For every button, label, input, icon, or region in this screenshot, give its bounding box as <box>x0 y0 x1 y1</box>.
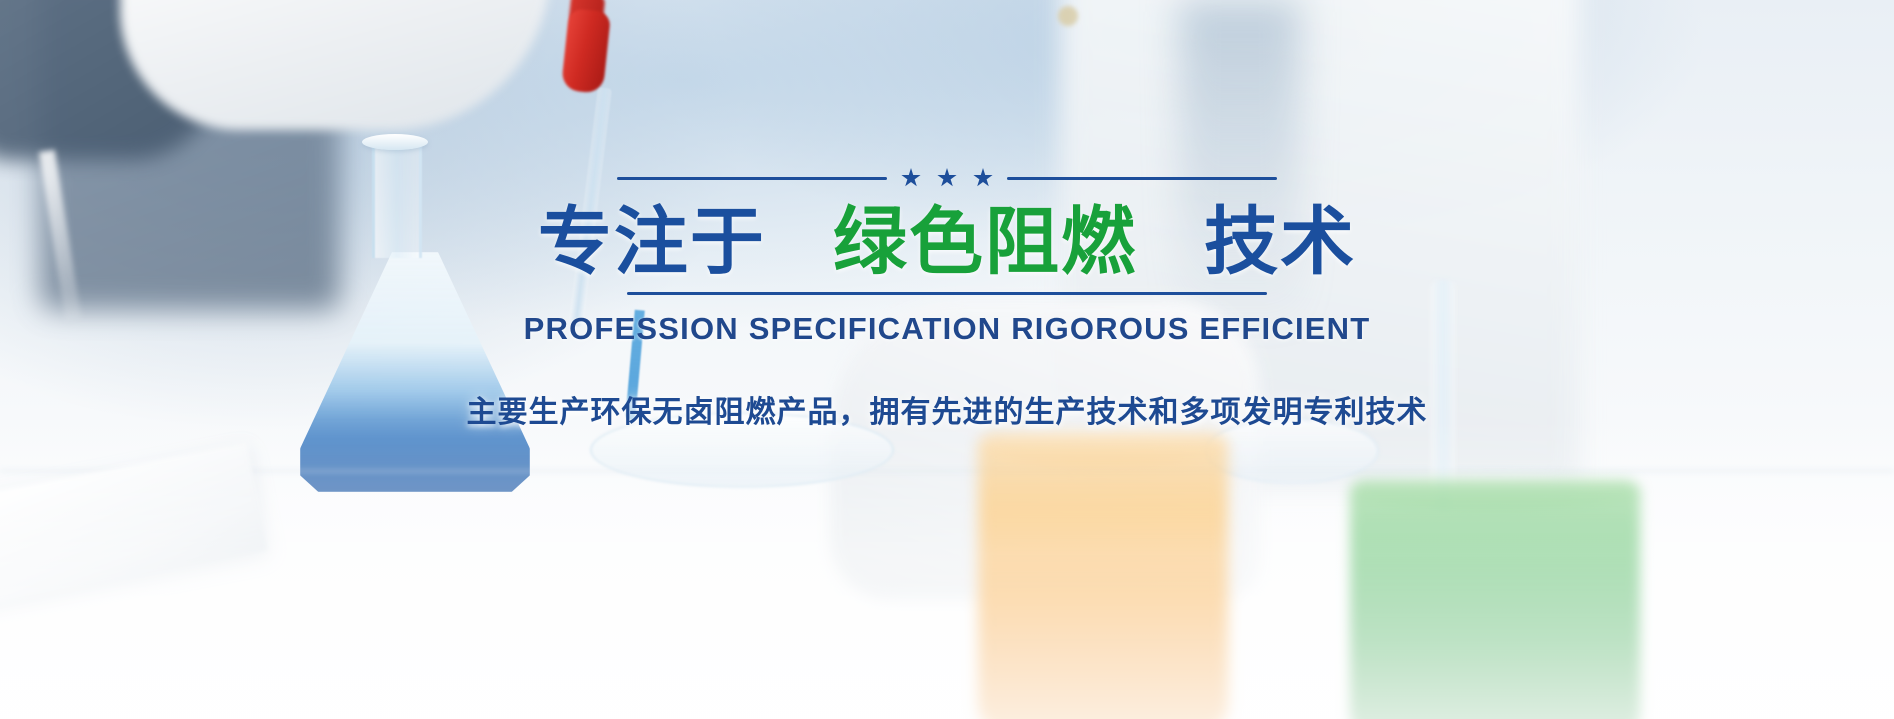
headline-part-technology: 技术 <box>1204 200 1356 283</box>
headline-part-focus: 专注于 <box>538 200 766 283</box>
headline-part-green-flame-retardant: 绿色阻燃 <box>833 200 1137 283</box>
star-icon <box>937 168 957 188</box>
star-group <box>901 168 993 188</box>
lab-hero-banner: 专注于 绿色阻燃 技术 PROFESSION SPECIFICATION RIG… <box>0 0 1894 719</box>
decorative-rule <box>617 168 1277 188</box>
subtitle-english: PROFESSION SPECIFICATION RIGOROUS EFFICI… <box>524 311 1371 347</box>
star-icon <box>973 168 993 188</box>
rule-line-left <box>617 177 887 180</box>
banner-text-overlay: 专注于 绿色阻燃 技术 PROFESSION SPECIFICATION RIG… <box>0 0 1894 719</box>
tagline-chinese: 主要生产环保无卤阻燃产品，拥有先进的生产技术和多项发明专利技术 <box>467 387 1428 431</box>
star-icon <box>901 168 921 188</box>
headline: 专注于 绿色阻燃 技术 <box>538 202 1356 282</box>
headline-underline <box>627 292 1267 295</box>
rule-line-right <box>1007 177 1277 180</box>
